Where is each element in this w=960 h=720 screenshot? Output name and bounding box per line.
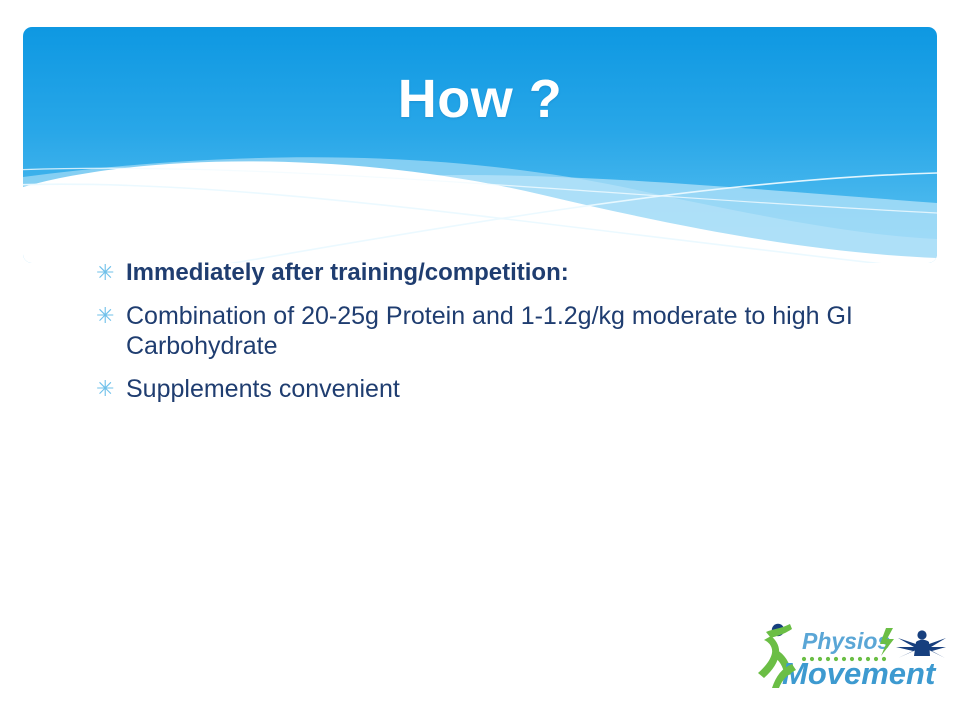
- header-banner: [23, 27, 937, 263]
- list-item-label: Immediately after training/competition:: [126, 258, 886, 288]
- bullet-list: ✳ Immediately after training/competition…: [96, 258, 896, 417]
- list-item: ✳ Combination of 20-25g Protein and 1-1.…: [96, 301, 896, 361]
- list-item: ✳ Supplements convenient: [96, 374, 896, 404]
- physios-movement-logo: Physios Movement: [746, 618, 946, 704]
- list-item-label: Supplements convenient: [126, 374, 886, 404]
- logo-word-movement: Movement: [782, 656, 937, 691]
- asterisk-bullet-icon: ✳: [96, 301, 126, 331]
- winged-figure-icon: [896, 630, 946, 658]
- asterisk-bullet-icon: ✳: [96, 258, 126, 288]
- asterisk-bullet-icon: ✳: [96, 374, 126, 404]
- slide: How ? ✳ Immediately after training/compe…: [0, 0, 960, 720]
- slide-title: How ?: [23, 68, 937, 130]
- logo-word-physios: Physios: [802, 628, 890, 654]
- list-item-label: Combination of 20-25g Protein and 1-1.2g…: [126, 301, 871, 361]
- list-item: ✳ Immediately after training/competition…: [96, 258, 896, 288]
